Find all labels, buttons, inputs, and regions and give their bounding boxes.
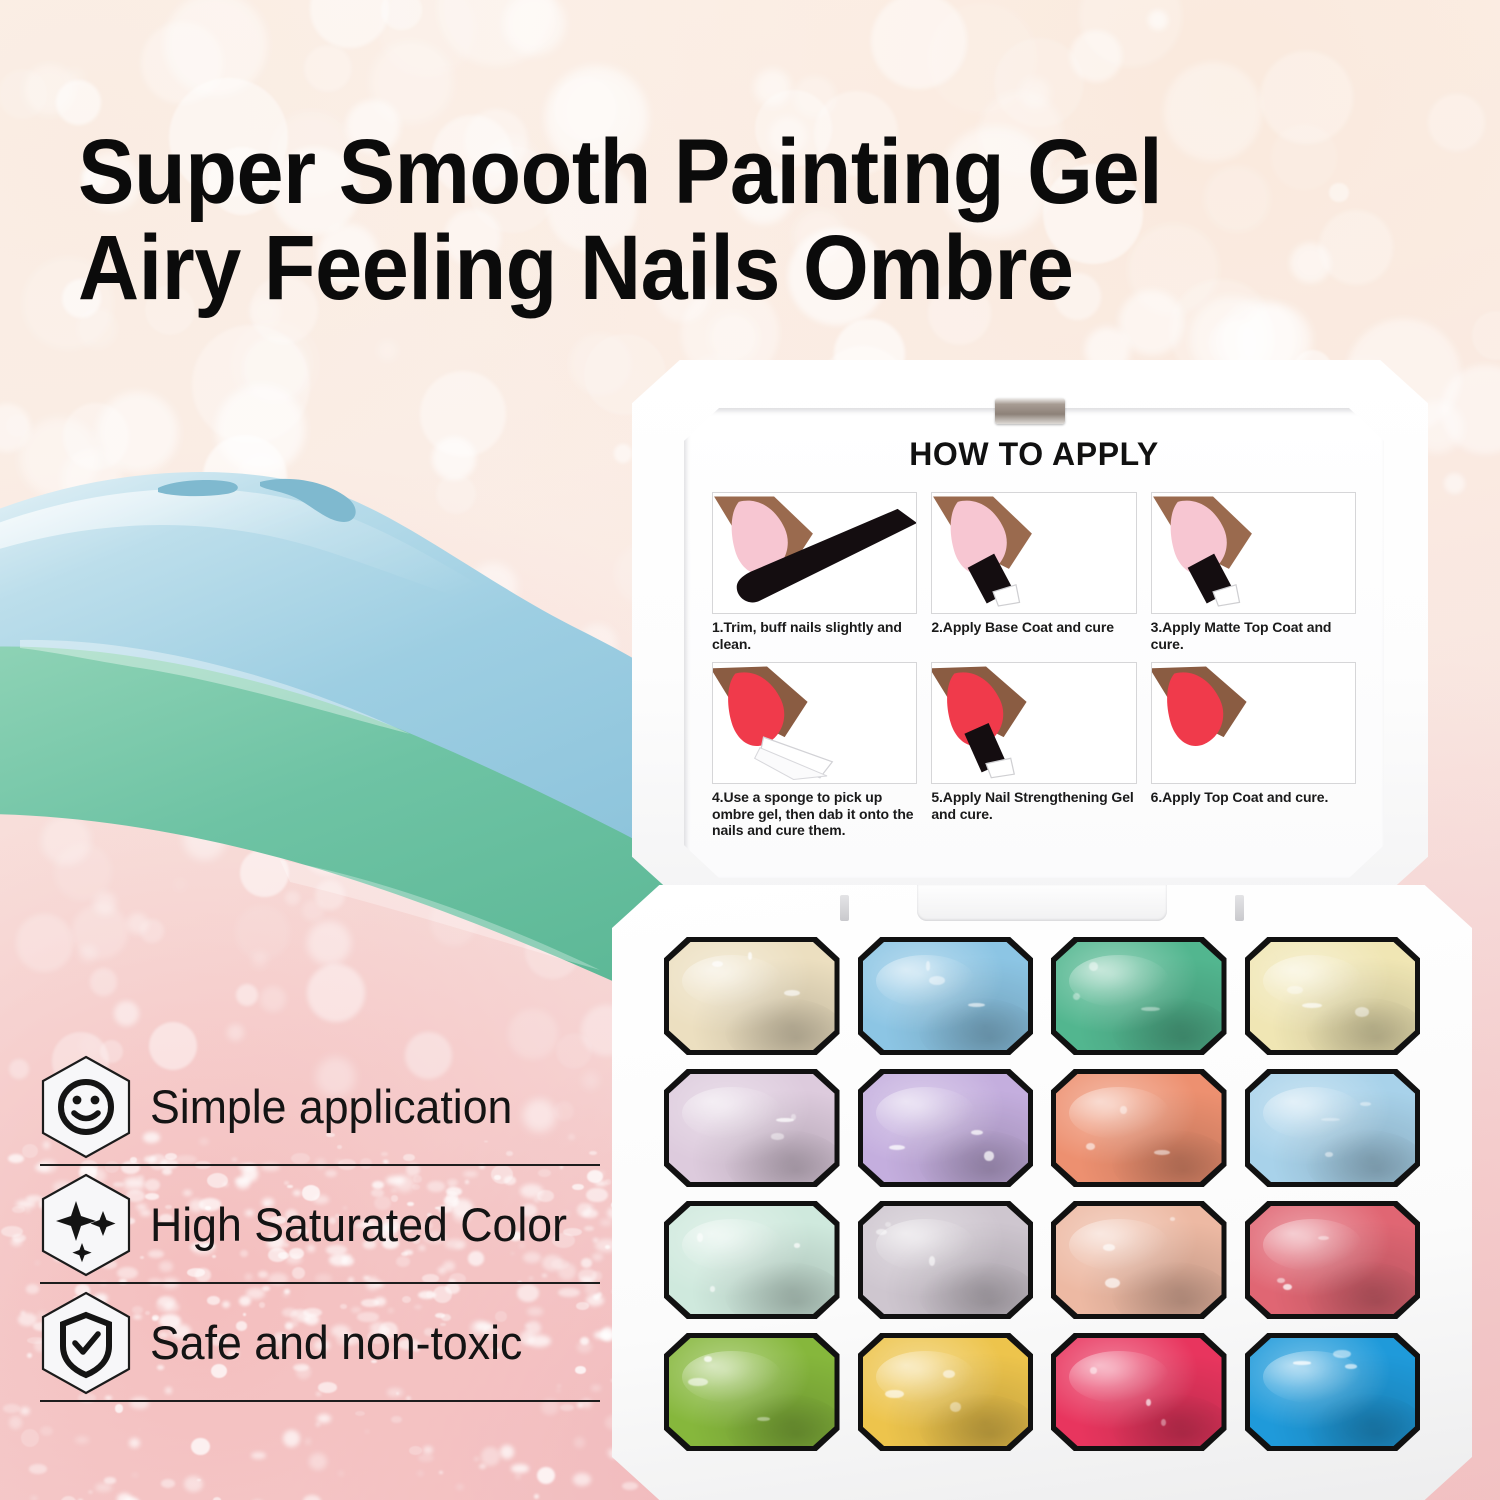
gel-highlight — [1355, 1007, 1369, 1017]
gel-highlight — [984, 1151, 995, 1160]
step-caption: 4.Use a sponge to pick up ombre gel, the… — [712, 789, 917, 839]
gel-swatch-rose-red[interactable] — [1245, 1201, 1421, 1319]
gel-swatch-mint-cream[interactable] — [664, 1201, 840, 1319]
gel-swatch-coral-orange[interactable] — [1051, 1069, 1227, 1187]
gel-highlight — [1325, 1152, 1333, 1157]
gel-color-fill — [1056, 942, 1222, 1050]
clasp-latch-icon[interactable] — [995, 398, 1065, 424]
gel-highlight — [748, 952, 752, 960]
headline-line-2: Airy Feeling Nails Ombre — [78, 220, 1338, 316]
gel-color-fill — [863, 1206, 1029, 1314]
feature-divider — [40, 1400, 600, 1402]
smiley-face-icon — [40, 1055, 132, 1159]
page-title: Super Smooth Painting Gel Airy Feeling N… — [78, 124, 1448, 316]
gel-highlight — [943, 1370, 955, 1378]
gel-highlight — [1103, 1244, 1115, 1251]
headline-line-1: Super Smooth Painting Gel — [78, 124, 1338, 220]
gel-color-fill — [1056, 1074, 1222, 1182]
gel-highlight — [1120, 1106, 1126, 1114]
how-to-step-1: 1.Trim, buff nails slightly and clean. — [712, 492, 917, 652]
lid-instruction-panel: HOW TO APPLY 1.Trim, buff nails slightly… — [684, 408, 1384, 878]
gel-highlight — [1345, 1364, 1358, 1369]
gel-color-fill — [1056, 1206, 1222, 1314]
gel-highlight — [794, 1243, 801, 1247]
sparkles-icon — [40, 1173, 132, 1277]
gel-highlight — [1277, 1278, 1285, 1284]
gel-color-fill — [669, 1206, 835, 1314]
step-caption: 5.Apply Nail Strengthening Gel and cure. — [931, 789, 1136, 822]
gel-color-fill — [1250, 1338, 1416, 1446]
gel-highlight — [889, 1145, 905, 1150]
gel-swatch-pale-yellow[interactable] — [1245, 937, 1421, 1055]
gel-swatch-golden-yellow[interactable] — [858, 1333, 1034, 1451]
gel-swatch-peach-nude[interactable] — [1051, 1201, 1227, 1319]
gel-color-fill — [863, 1338, 1029, 1446]
gel-color-fill — [1250, 1074, 1416, 1182]
tray-pin-right — [1235, 895, 1244, 921]
step-illustration — [712, 492, 917, 614]
gel-color-fill — [1250, 942, 1416, 1050]
step-illustration — [931, 492, 1136, 614]
gel-swatch-cream-beige[interactable] — [664, 937, 840, 1055]
gel-highlight — [929, 976, 945, 985]
step-illustration — [1151, 662, 1356, 784]
gel-highlight — [688, 1378, 708, 1387]
step-caption: 3.Apply Matte Top Coat and cure. — [1151, 619, 1356, 652]
gel-highlight — [710, 1286, 715, 1291]
feature-label: Simple application — [150, 1080, 512, 1134]
step-illustration — [1151, 492, 1356, 614]
feature-label: High Saturated Color — [150, 1198, 567, 1252]
how-to-apply-steps: 1.Trim, buff nails slightly and clean.2.… — [712, 492, 1356, 839]
gel-highlight — [926, 961, 931, 971]
gel-color-fill — [1250, 1206, 1416, 1314]
gel-swatch-sky-blue[interactable] — [858, 937, 1034, 1055]
feature-label: Safe and non-toxic — [150, 1316, 522, 1370]
gel-swatch-grid — [664, 937, 1420, 1451]
gel-highlight — [1161, 1419, 1166, 1426]
gel-swatch-baby-blue[interactable] — [1245, 1069, 1421, 1187]
gel-highlight — [1293, 1361, 1311, 1364]
gel-color-fill — [669, 942, 835, 1050]
gel-color-fill — [669, 1338, 835, 1446]
gel-highlight — [791, 1114, 796, 1120]
gel-highlight — [950, 1402, 961, 1412]
gel-highlight — [1302, 1003, 1322, 1008]
gel-highlight — [771, 1133, 784, 1139]
gel-swatch-olive-green[interactable] — [664, 1333, 840, 1451]
gel-highlight — [1086, 1143, 1095, 1150]
gel-highlight — [876, 1229, 887, 1235]
gel-highlight — [1321, 1118, 1340, 1122]
how-to-apply-title: HOW TO APPLY — [684, 436, 1384, 473]
gel-highlight — [1170, 1217, 1176, 1221]
how-to-step-2: 2.Apply Base Coat and cure — [931, 492, 1136, 652]
feature-row-safe-non-toxic: Safe and non-toxic — [40, 1284, 606, 1402]
tray-hinge-notch — [917, 885, 1167, 921]
shield-check-icon — [40, 1291, 132, 1395]
gel-highlight — [712, 961, 723, 967]
gel-highlight — [1283, 1284, 1292, 1290]
gel-highlight — [1333, 1350, 1351, 1359]
gel-highlight — [971, 1130, 984, 1135]
gel-highlight — [885, 1222, 891, 1227]
gel-highlight — [704, 1356, 713, 1362]
step-caption: 2.Apply Base Coat and cure — [931, 619, 1136, 636]
gel-swatch-crimson-pink[interactable] — [1051, 1333, 1227, 1451]
gel-highlight — [1146, 1399, 1151, 1406]
gel-swatch-lavender[interactable] — [858, 1069, 1034, 1187]
feature-list: Simple application High Saturated Color — [40, 1048, 606, 1402]
gel-palette-case: HOW TO APPLY 1.Trim, buff nails slightly… — [612, 330, 1472, 1500]
gel-highlight — [757, 1417, 770, 1421]
palette-lid: HOW TO APPLY 1.Trim, buff nails slightly… — [632, 360, 1428, 900]
gel-highlight — [1287, 986, 1303, 994]
gel-highlight — [1141, 1007, 1160, 1012]
how-to-step-5: 5.Apply Nail Strengthening Gel and cure. — [931, 662, 1136, 839]
gel-highlight — [885, 1390, 903, 1399]
gel-highlight — [697, 1233, 703, 1242]
gel-highlight — [1318, 1236, 1329, 1240]
gel-highlight — [968, 1003, 985, 1007]
step-caption: 6.Apply Top Coat and cure. — [1151, 789, 1356, 806]
gel-color-fill — [1056, 1338, 1222, 1446]
gel-color-fill — [669, 1074, 835, 1182]
feature-row-simple-application: Simple application — [40, 1048, 606, 1166]
gel-swatch-jade-green[interactable] — [1051, 937, 1227, 1055]
how-to-step-4: 4.Use a sponge to pick up ombre gel, the… — [712, 662, 917, 839]
how-to-step-6: 6.Apply Top Coat and cure. — [1151, 662, 1356, 839]
step-illustration — [712, 662, 917, 784]
gel-color-fill — [863, 1074, 1029, 1182]
step-illustration — [931, 662, 1136, 784]
step-caption: 1.Trim, buff nails slightly and clean. — [712, 619, 917, 652]
gel-swatch-pale-lilac[interactable] — [664, 1069, 840, 1187]
gel-highlight — [1090, 1367, 1098, 1374]
gel-highlight — [1089, 962, 1099, 971]
gel-highlight — [1073, 993, 1080, 1000]
gel-highlight — [784, 990, 799, 996]
gel-swatch-azure-blue[interactable] — [1245, 1333, 1421, 1451]
gel-color-fill — [863, 942, 1029, 1050]
gel-highlight — [1105, 1278, 1120, 1288]
gel-highlight — [1154, 1150, 1170, 1155]
tray-pin-left — [840, 895, 849, 921]
palette-tray — [612, 885, 1472, 1500]
gel-highlight — [776, 1118, 793, 1122]
gel-highlight — [929, 1256, 935, 1265]
how-to-step-3: 3.Apply Matte Top Coat and cure. — [1151, 492, 1356, 652]
product-marketing-image: Super Smooth Painting Gel Airy Feeling N… — [0, 0, 1500, 1500]
gel-highlight — [1360, 1102, 1371, 1106]
gel-swatch-grey-lilac[interactable] — [858, 1201, 1034, 1319]
feature-row-high-saturated-color: High Saturated Color — [40, 1166, 606, 1284]
